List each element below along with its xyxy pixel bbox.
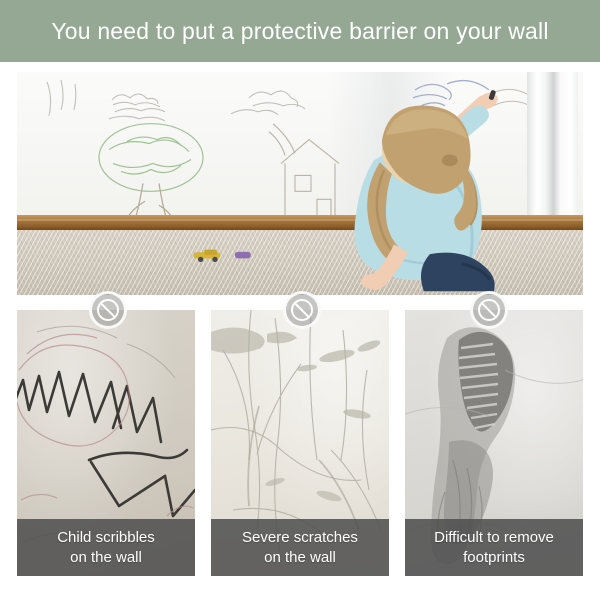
panel-caption-footprints: Difficult to remove footprints (405, 519, 583, 576)
hero-photo-child-drawing-on-wall (17, 72, 583, 295)
page-title: You need to put a protective barrier on … (51, 18, 548, 45)
no-entry-icon (470, 291, 508, 329)
product-infographic: You need to put a protective barrier on … (0, 0, 600, 600)
hero-toy-purple (232, 250, 255, 261)
no-entry-icon (89, 291, 127, 329)
problem-panel-severe-scratches: Severe scratches on the wall (211, 310, 389, 576)
problem-panel-list: Child scribbles on the wall (17, 310, 583, 576)
panel-caption-line-2: footprints (463, 548, 525, 568)
problem-panel-footprints: Difficult to remove footprints (405, 310, 583, 576)
panel-caption-line-1: Child scribbles (57, 528, 155, 548)
panel-caption-line-1: Severe scratches (242, 528, 358, 548)
panel-caption-line-1: Difficult to remove (434, 528, 554, 548)
panel-caption-line-2: on the wall (264, 548, 336, 568)
hero-door-frame-edge (560, 72, 578, 215)
hero-child-figure (334, 90, 504, 295)
panel-caption-child-scribbles: Child scribbles on the wall (17, 519, 195, 576)
panel-caption-line-2: on the wall (70, 548, 142, 568)
hero-door-frame (527, 72, 561, 215)
hero-toy-crayon (187, 246, 232, 264)
panel-caption-severe-scratches: Severe scratches on the wall (211, 519, 389, 576)
header-banner: You need to put a protective barrier on … (0, 0, 600, 62)
problem-panel-child-scribbles: Child scribbles on the wall (17, 310, 195, 576)
no-entry-icon (283, 291, 321, 329)
